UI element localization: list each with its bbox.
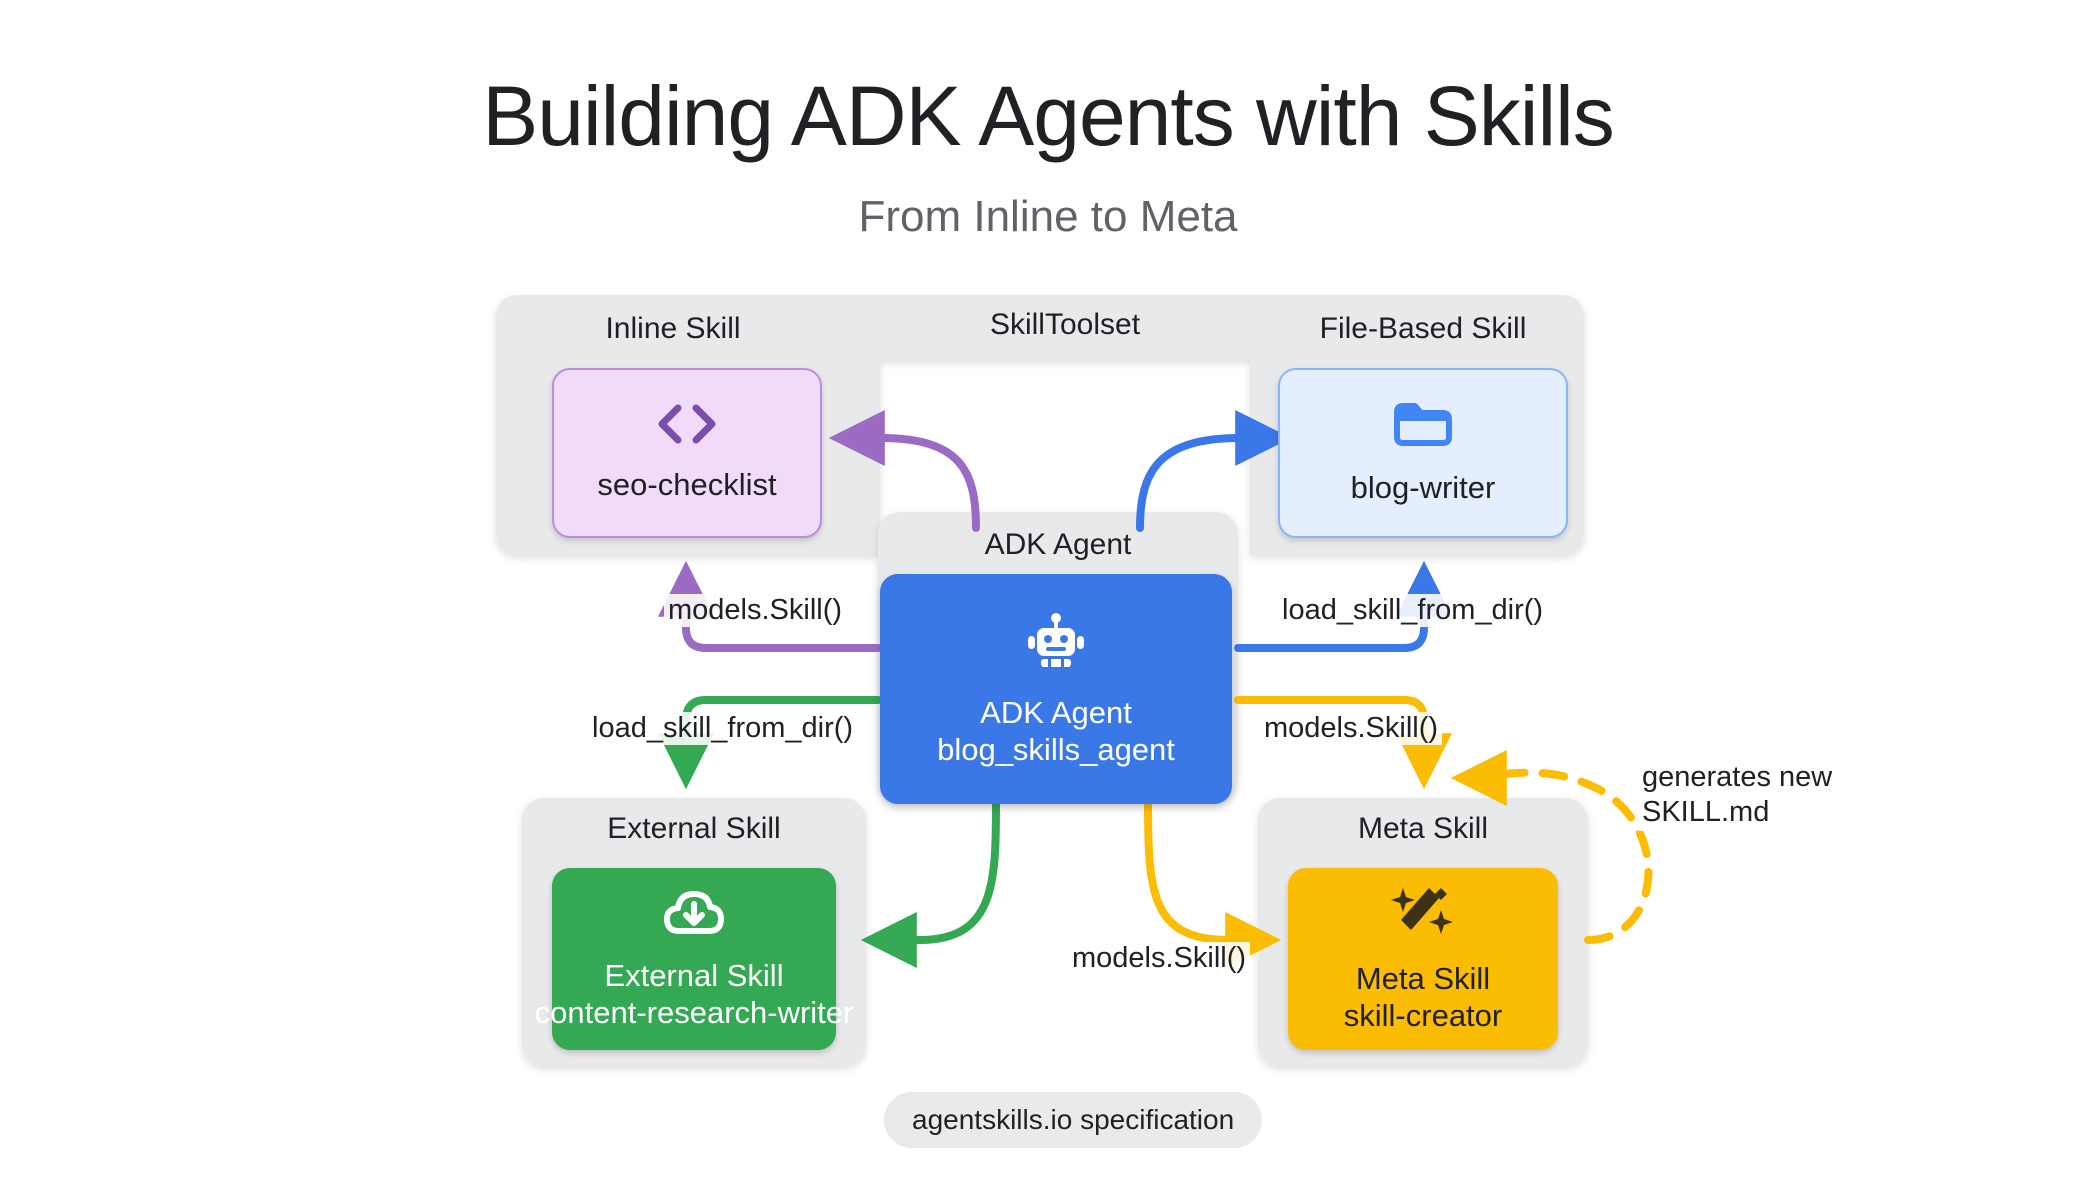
- edge-label-agent-to-external: load_skill_from_dir(): [588, 712, 857, 745]
- code-brackets-icon: [652, 402, 722, 451]
- cluster-label-external-skill: External Skill: [522, 812, 866, 846]
- node-blog-writer[interactable]: blog-writer: [1278, 368, 1568, 538]
- edge-agent-to-blog-top: [1140, 438, 1272, 528]
- node-label-external-skill-line1: External Skill: [604, 958, 783, 995]
- edge-label-meta-self-loop-line1: generates new: [1642, 761, 1832, 793]
- node-label-adk-agent-line2: blog_skills_agent: [937, 732, 1175, 769]
- cloud-download-icon: [661, 887, 727, 942]
- magic-wand-icon: [1391, 884, 1455, 945]
- node-label-meta-skill-line1: Meta Skill: [1356, 961, 1490, 998]
- robot-icon: [1024, 610, 1088, 679]
- node-adk-agent[interactable]: ADK Agent blog_skills_agent: [880, 574, 1232, 804]
- node-label-blog-writer: blog-writer: [1351, 470, 1496, 507]
- node-meta-skill[interactable]: Meta Skill skill-creator: [1288, 868, 1558, 1050]
- edge-label-agent-to-seo: models.Skill(): [664, 594, 846, 627]
- node-label-seo-checklist: seo-checklist: [597, 467, 776, 504]
- cluster-label-skilltoolset: SkillToolset: [880, 308, 1250, 342]
- edge-label-agent-to-meta-lower: models.Skill(): [1068, 942, 1250, 975]
- edge-label-meta-self-loop-line2: SKILL.md: [1642, 796, 1769, 828]
- cluster-label-adk-agent: ADK Agent: [878, 528, 1238, 562]
- edge-label-agent-to-meta: models.Skill(): [1260, 712, 1442, 745]
- edge-label-agent-to-blog: load_skill_from_dir(): [1278, 594, 1547, 627]
- edge-agent-to-external-right: [880, 800, 996, 940]
- node-seo-checklist[interactable]: seo-checklist: [552, 368, 822, 538]
- footer-spec-pill[interactable]: agentskills.io specification: [884, 1092, 1262, 1148]
- edge-agent-to-seo-top: [848, 438, 976, 528]
- diagram-canvas: Building ADK Agents with Skills From Inl…: [0, 0, 2096, 1182]
- cluster-label-file-based-skill: File-Based Skill: [1246, 312, 1600, 346]
- edge-agent-to-meta-left: [1148, 800, 1262, 940]
- node-label-external-skill-line2: content-research-writer: [535, 995, 854, 1032]
- cluster-label-meta-skill: Meta Skill: [1258, 812, 1588, 846]
- folder-icon: [1392, 399, 1454, 454]
- node-label-adk-agent-line1: ADK Agent: [980, 695, 1132, 732]
- cluster-label-inline-skill: Inline Skill: [496, 312, 850, 346]
- node-external-skill[interactable]: External Skill content-research-writer: [552, 868, 836, 1050]
- node-label-meta-skill-line2: skill-creator: [1344, 998, 1502, 1035]
